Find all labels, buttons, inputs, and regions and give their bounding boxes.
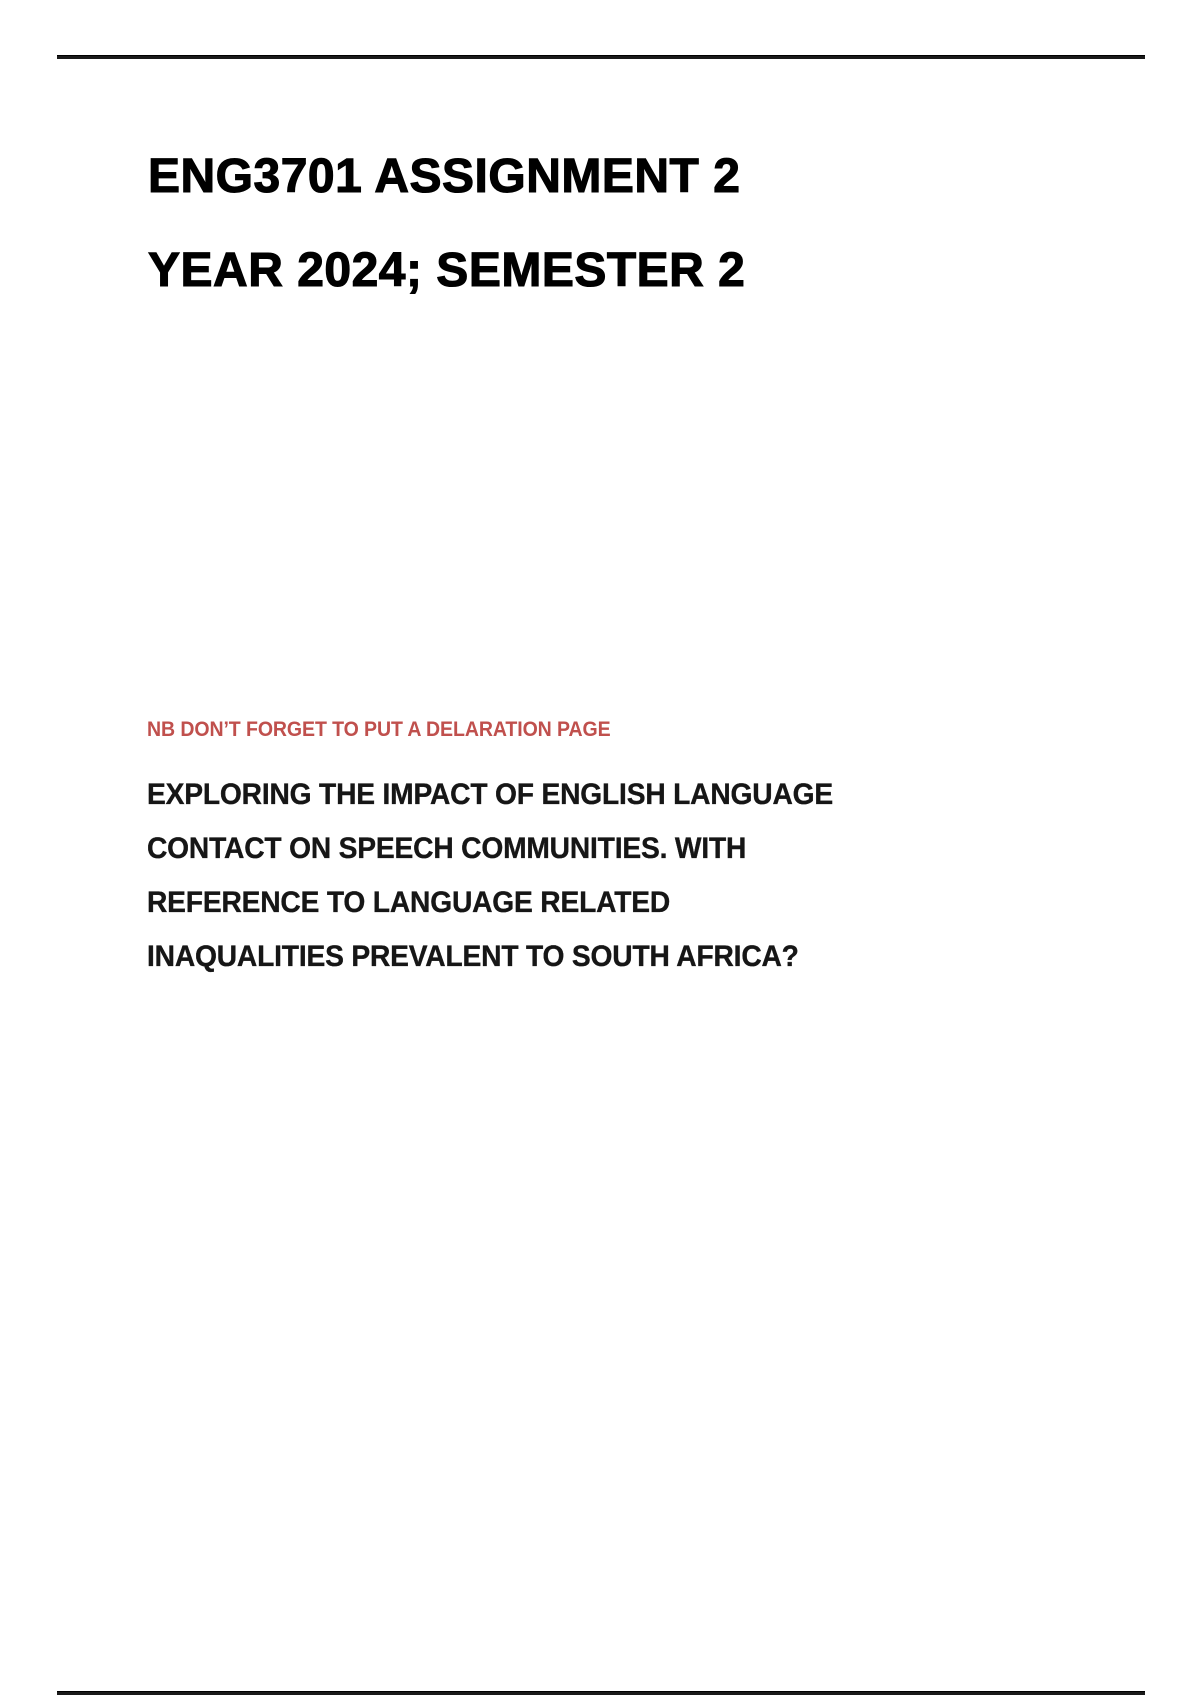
footer-separator-rule [57,1691,1145,1695]
question-line-1: EXPLORING THE IMPACT OF ENGLISH LANGUAGE [147,768,1012,822]
document-title: ENG3701 ASSIGNMENT 2 YEAR 2024; SEMESTER… [148,130,1048,318]
question-line-3: REFERENCE TO LANGUAGE RELATED [147,876,1012,930]
header-separator-rule [57,55,1145,59]
title-line-2: YEAR 2024; SEMESTER 2 [148,224,1048,318]
document-page: ENG3701 ASSIGNMENT 2 YEAR 2024; SEMESTER… [0,0,1200,1700]
question-line-2: CONTACT ON SPEECH COMMUNITIES. WITH [147,822,1012,876]
declaration-page-note: NB DON’T FORGET TO PUT A DELARATION PAGE [147,715,611,745]
assignment-question: EXPLORING THE IMPACT OF ENGLISH LANGUAGE… [147,768,1067,984]
title-line-1: ENG3701 ASSIGNMENT 2 [148,130,1048,224]
question-line-4: INAQUALITIES PREVALENT TO SOUTH AFRICA? [147,930,1012,984]
